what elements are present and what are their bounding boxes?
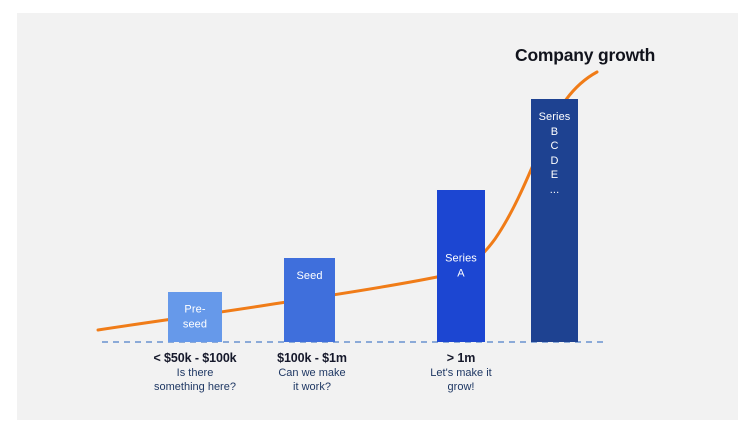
caption-note-series-a-line1: Let's make it (430, 367, 491, 379)
bar-label-seed-line1: Seed (296, 270, 322, 282)
bar-pre-seed: Pre-seed (168, 292, 222, 342)
bar-label-series-bcde-line4: D (550, 155, 558, 167)
bar-series-bcde: SeriesBCDE... (531, 99, 578, 342)
bar-label-series-bcde: SeriesBCDE... (531, 110, 578, 197)
caption-note-seed: Can we makeit work? (232, 367, 392, 394)
caption-seed: $100k - $1m Can we makeit work? (232, 351, 392, 394)
caption-note-pre-seed-line2: something here? (154, 381, 236, 393)
caption-note-pre-seed-line1: Is there (177, 367, 214, 379)
growth-bar-chart: Company growth Pre-seed Seed SeriesA (17, 13, 738, 420)
bar-label-series-a-line1: Series (445, 253, 477, 265)
caption-note-seed-line1: Can we make (278, 367, 345, 379)
caption-note-series-a-line2: grow! (448, 381, 475, 393)
bar-label-pre-seed: Pre-seed (168, 303, 222, 332)
caption-note-seed-line2: it work? (293, 381, 331, 393)
caption-series-a: > 1m Let's make itgrow! (381, 351, 541, 394)
bar-label-series-bcde-line6: ... (550, 184, 559, 196)
bar-label-series-a-line2: A (457, 267, 464, 279)
bar-label-series-bcde-line3: C (550, 140, 558, 152)
bar-label-series-a: SeriesA (437, 252, 485, 281)
caption-amount-seed: $100k - $1m (232, 351, 392, 365)
caption-note-series-a: Let's make itgrow! (381, 367, 541, 394)
bar-label-seed: Seed (284, 269, 335, 284)
caption-amount-series-a: > 1m (381, 351, 541, 365)
bar-label-series-bcde-line1: Series (539, 111, 571, 123)
bar-label-series-bcde-line2: B (551, 126, 558, 138)
bar-label-pre-seed-line1: Pre- (184, 304, 205, 316)
chart-panel: Company growth Pre-seed Seed SeriesA (17, 13, 738, 420)
bar-label-pre-seed-line2: seed (183, 318, 207, 330)
slide-canvas: Company growth Pre-seed Seed SeriesA (0, 0, 756, 433)
bar-seed: Seed (284, 258, 335, 342)
bar-series-a: SeriesA (437, 190, 485, 342)
bar-label-series-bcde-line5: E (551, 169, 558, 181)
